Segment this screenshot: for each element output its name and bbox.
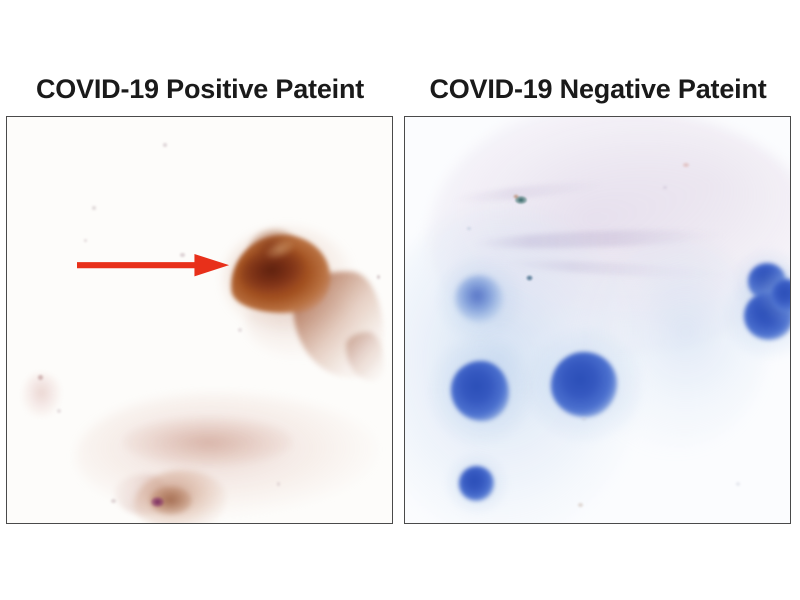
- background-wash-lower: [76, 393, 376, 515]
- blue-nucleus: [771, 279, 790, 311]
- squamous-cell-edge: [451, 178, 605, 206]
- figure-container: COVID-19 Positive Pateint COVID-19 Negat…: [0, 0, 800, 600]
- nucleus-halo: [446, 453, 507, 514]
- dust-speck: [238, 328, 242, 332]
- nucleus-halo: [526, 328, 641, 442]
- blue-nucleus: [744, 292, 790, 341]
- nucleus-core: [771, 279, 790, 311]
- cytoplasm-wash-secondary: [582, 239, 767, 450]
- cell-debris-core: [149, 486, 191, 514]
- blue-nucleus: [451, 361, 509, 422]
- nucleus-halo: [725, 273, 790, 359]
- cell-debris-tail: [115, 474, 169, 515]
- micrograph-negative[interactable]: [404, 116, 791, 524]
- teal-speck: [526, 275, 533, 281]
- cytoplasm-wash: [405, 206, 644, 523]
- nucleus-core: [748, 263, 787, 300]
- dust-speck: [38, 375, 43, 380]
- nucleus-core: [551, 352, 616, 417]
- dust-speck: [377, 275, 381, 278]
- cell-debris-nucleus-dot: [151, 497, 163, 508]
- pink-speck: [682, 162, 690, 168]
- teal-speck: [515, 196, 527, 204]
- dab-cell-highlight: [263, 235, 298, 262]
- dust-speck: [582, 417, 586, 421]
- dust-speck: [57, 409, 61, 413]
- squamous-cell-sheet: [428, 117, 790, 357]
- panel-title-positive: COVID-19 Positive Pateint: [6, 74, 394, 104]
- squamous-cell-edge: [505, 257, 729, 281]
- dust-speck: [92, 206, 96, 209]
- pink-blotch-left: [22, 373, 61, 418]
- dust-speck: [163, 143, 167, 147]
- dust-speck: [277, 482, 281, 486]
- dab-cell-dark-core: [237, 242, 309, 297]
- nucleus-halo: [437, 258, 522, 340]
- squamous-cell-edge: [474, 226, 729, 251]
- cell-debris-bottom: [134, 470, 226, 523]
- nucleus-halo: [429, 337, 531, 444]
- dust-speck: [467, 227, 471, 231]
- dust-speck: [578, 503, 583, 507]
- background-wash-lower-core: [123, 417, 292, 466]
- blue-nucleus: [748, 263, 787, 300]
- nucleus-halo: [759, 267, 790, 324]
- annotation-arrow-icon: [77, 253, 231, 277]
- blue-nucleus: [459, 466, 494, 501]
- nucleus-core: [455, 275, 503, 322]
- dab-cell-upper-lobe: [242, 222, 299, 267]
- dab-cell-halo: [223, 227, 354, 333]
- nucleus-core: [451, 361, 509, 422]
- nucleus-core: [459, 466, 494, 501]
- dab-cell-underwash: [246, 288, 354, 357]
- blue-nucleus: [455, 275, 503, 322]
- panel-title-negative: COVID-19 Negative Pateint: [404, 74, 792, 104]
- nucleus-core: [744, 292, 790, 341]
- micrograph-positive[interactable]: [6, 116, 393, 524]
- blue-nucleus: [551, 352, 616, 417]
- slide-field-positive: [7, 117, 392, 523]
- nucleus-halo: [733, 249, 790, 313]
- dab-cell-tail-tip: [346, 332, 385, 381]
- slide-field-negative: [405, 117, 790, 523]
- dust-speck: [84, 239, 87, 242]
- dust-speck: [111, 499, 116, 503]
- dust-speck: [736, 482, 740, 485]
- dust-speck: [663, 186, 667, 189]
- dab-positive-cell: [226, 230, 334, 319]
- dab-cell-tail: [289, 269, 387, 379]
